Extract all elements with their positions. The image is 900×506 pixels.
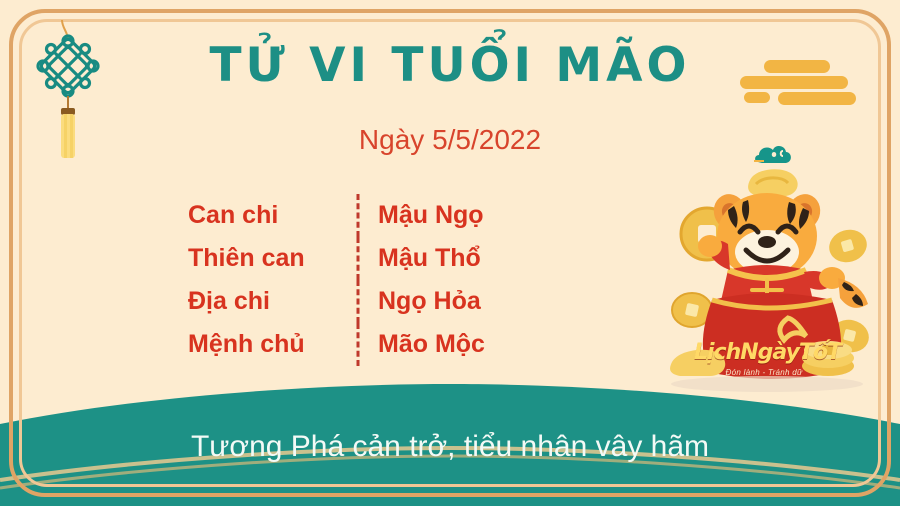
horoscope-info-table: Can chi Mậu Ngọ Thiên can Mậu Thổ Địa ch… (188, 194, 518, 366)
row-label: Can chi (188, 201, 338, 230)
tiger-mascot-illustration (652, 150, 892, 405)
row-label: Mệnh chủ (188, 330, 338, 359)
row-value: Ngọ Hỏa (378, 287, 518, 316)
row-divider (338, 280, 378, 323)
table-row: Thiên can Mậu Thổ (188, 237, 518, 280)
fortune-banner-text: Tương Phá cản trở, tiểu nhân vây hãm (0, 430, 900, 464)
row-label: Thiên can (188, 244, 338, 273)
table-row: Địa chi Ngọ Hỏa (188, 280, 518, 323)
table-row: Mệnh chủ Mão Mộc (188, 323, 518, 366)
row-value: Mậu Ngọ (378, 201, 518, 230)
horoscope-card: LịchNgàyTốT Đón lành - Tránh dữ TỬ VI TU… (0, 0, 900, 506)
row-divider (338, 194, 378, 237)
date-subtitle: Ngày 5/5/2022 (0, 124, 900, 156)
row-divider (338, 237, 378, 280)
row-value: Mão Mộc (378, 330, 518, 359)
row-label: Địa chi (188, 287, 338, 316)
page-title: TỬ VI TUỔI MÃO (0, 38, 900, 93)
table-row: Can chi Mậu Ngọ (188, 194, 518, 237)
row-divider (338, 323, 378, 366)
row-value: Mậu Thổ (378, 244, 518, 273)
